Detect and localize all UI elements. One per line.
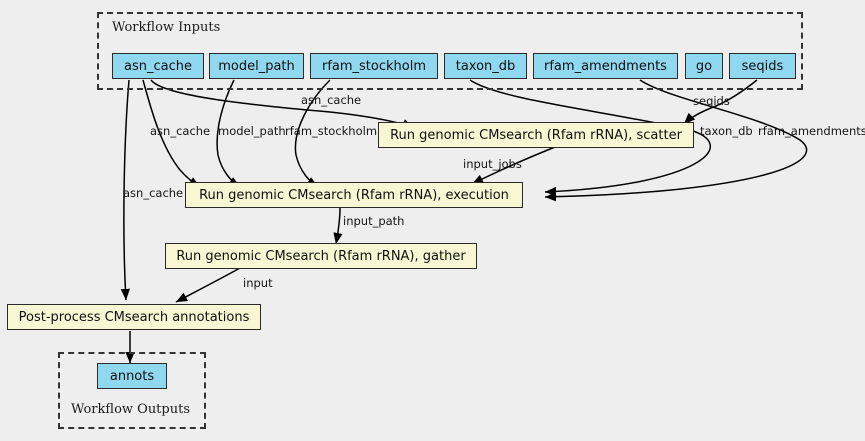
edge-label-asn_cache-postprocess: asn_cache: [123, 188, 183, 200]
output-node-annots-label: annots: [110, 370, 154, 383]
input-node-go-label: go: [696, 60, 712, 73]
edge-label-rfam_amendments-execution: rfam_amendments: [758, 126, 865, 138]
process-node-execution[interactable]: Run genomic CMsearch (Rfam rRNA), execut…: [185, 182, 523, 208]
workflow-inputs-label: Workflow Inputs: [112, 20, 220, 35]
input-node-rfam_stockholm-label: rfam_stockholm: [322, 60, 426, 73]
input-node-rfam_stockholm[interactable]: rfam_stockholm: [310, 53, 438, 79]
edge-label-asn_cache-scatter: asn_cache: [301, 95, 361, 107]
process-node-scatter-label: Run genomic CMsearch (Rfam rRNA), scatte…: [390, 129, 682, 142]
input-node-seqids[interactable]: seqids: [729, 53, 796, 79]
edge-label-seqids-scatter: seqids: [693, 96, 730, 108]
edge-label-execution-gather: input_path: [343, 216, 404, 228]
input-node-asn_cache[interactable]: asn_cache: [112, 53, 204, 79]
process-node-scatter[interactable]: Run genomic CMsearch (Rfam rRNA), scatte…: [378, 122, 694, 148]
input-node-taxon_db[interactable]: taxon_db: [444, 53, 527, 79]
process-node-execution-label: Run genomic CMsearch (Rfam rRNA), execut…: [199, 189, 509, 202]
edge-label-gather-postprocess: input: [243, 278, 273, 290]
workflow-outputs-label: Workflow Outputs: [71, 402, 190, 417]
output-node-annots[interactable]: annots: [97, 363, 167, 389]
edge-label-model_path-execution: model_path: [218, 126, 286, 138]
input-node-rfam_amendments[interactable]: rfam_amendments: [533, 53, 678, 79]
input-node-taxon_db-label: taxon_db: [456, 60, 516, 73]
edge-label-asn_cache-execution: asn_cache: [150, 126, 210, 138]
edge-label-taxon_db-execution: taxon_db: [700, 126, 753, 138]
process-node-postprocess-label: Post-process CMsearch annotations: [19, 311, 250, 324]
process-node-postprocess[interactable]: Post-process CMsearch annotations: [7, 304, 261, 330]
edge-label-rfam_stockholm-execution: rfam_stockholm: [285, 126, 377, 138]
process-node-gather[interactable]: Run genomic CMsearch (Rfam rRNA), gather: [165, 243, 477, 269]
process-node-gather-label: Run genomic CMsearch (Rfam rRNA), gather: [176, 250, 465, 263]
input-node-rfam_amendments-label: rfam_amendments: [544, 60, 667, 73]
edge-gather-postprocess: [176, 268, 240, 302]
input-node-model_path[interactable]: model_path: [209, 53, 304, 79]
input-node-asn_cache-label: asn_cache: [124, 60, 192, 73]
edge-execution-gather: [336, 208, 340, 244]
edge-label-scatter-execution: input_jobs: [463, 159, 522, 171]
input-node-model_path-label: model_path: [218, 60, 295, 73]
input-node-go[interactable]: go: [685, 53, 723, 79]
input-node-seqids-label: seqids: [742, 60, 784, 73]
workflow-diagram: Workflow Inputs asn_cache model_path rfa…: [0, 0, 865, 441]
